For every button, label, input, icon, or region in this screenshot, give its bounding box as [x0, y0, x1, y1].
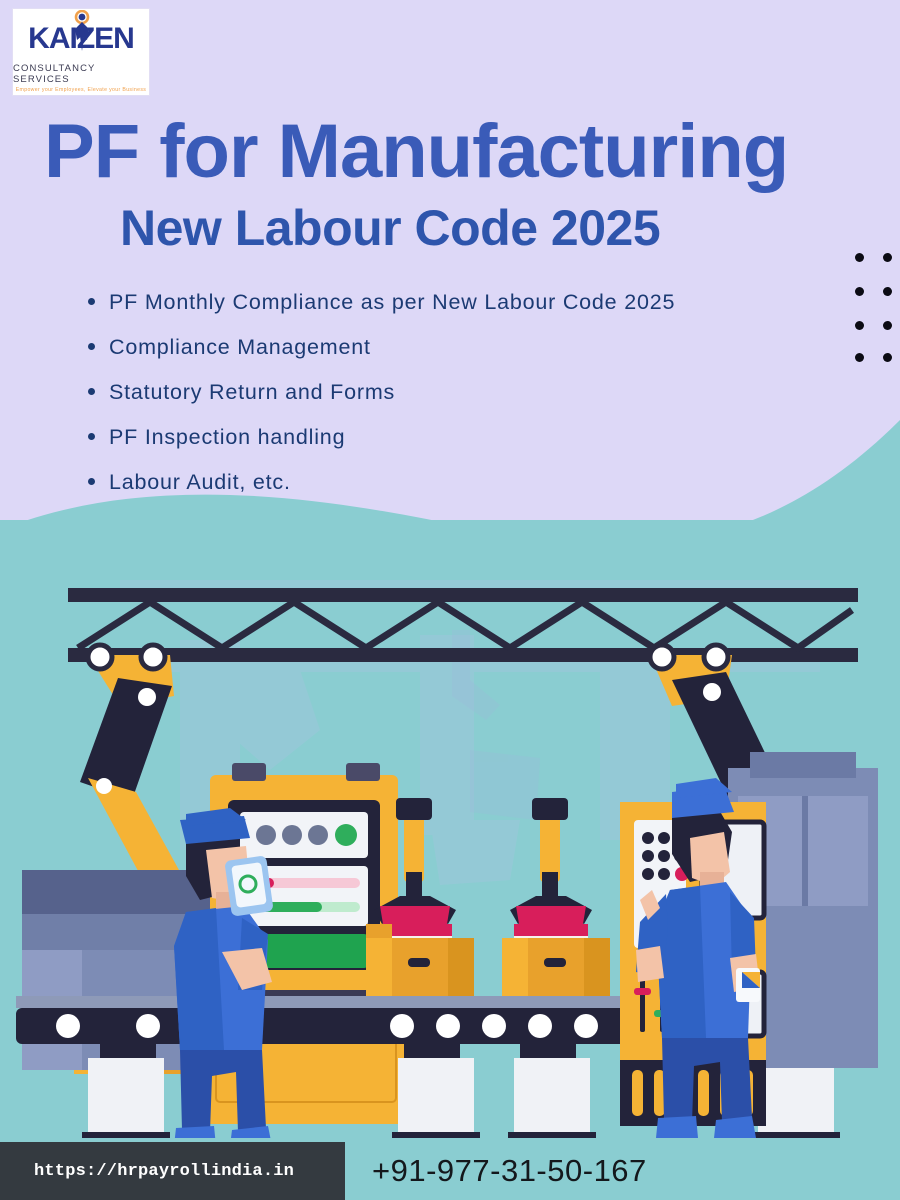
page-subtitle: New Labour Code 2025 — [120, 200, 880, 256]
list-item: Labour Audit, etc. — [88, 470, 848, 495]
dot-grid-decoration — [855, 253, 900, 365]
logo-person-icon — [73, 10, 91, 56]
brand-logo: KAIZEN CONSULTANCY SERVICES Empower your… — [12, 8, 150, 96]
logo-subtitle: CONSULTANCY SERVICES — [13, 63, 149, 85]
page-title: PF for Manufacturing — [44, 112, 864, 192]
logo-wordmark: KAIZEN — [15, 12, 147, 62]
list-item-label: PF Inspection handling — [109, 425, 345, 450]
footer-url-bar[interactable]: https://hrpayrollindia.in — [0, 1142, 345, 1200]
bullet-dot-icon — [88, 343, 95, 350]
bullet-dot-icon — [88, 433, 95, 440]
list-item: Compliance Management — [88, 335, 848, 360]
feature-list: PF Monthly Compliance as per New Labour … — [88, 290, 848, 515]
list-item: PF Monthly Compliance as per New Labour … — [88, 290, 848, 315]
poster-root: KAIZEN CONSULTANCY SERVICES Empower your… — [0, 0, 900, 1200]
list-item-label: Labour Audit, etc. — [109, 470, 291, 495]
list-item-label: PF Monthly Compliance as per New Labour … — [109, 290, 675, 315]
factory-illustration — [0, 520, 900, 1150]
list-item-label: Compliance Management — [109, 335, 371, 360]
contact-phone[interactable]: +91-977-31-50-167 — [372, 1142, 647, 1200]
website-url[interactable]: https://hrpayrollindia.in — [34, 1162, 294, 1181]
bullet-dot-icon — [88, 388, 95, 395]
bullet-dot-icon — [88, 298, 95, 305]
list-item-label: Statutory Return and Forms — [109, 380, 395, 405]
list-item: Statutory Return and Forms — [88, 380, 848, 405]
list-item: PF Inspection handling — [88, 425, 848, 450]
bullet-dot-icon — [88, 478, 95, 485]
logo-tagline: Empower your Employees, Elevate your Bus… — [16, 87, 147, 93]
